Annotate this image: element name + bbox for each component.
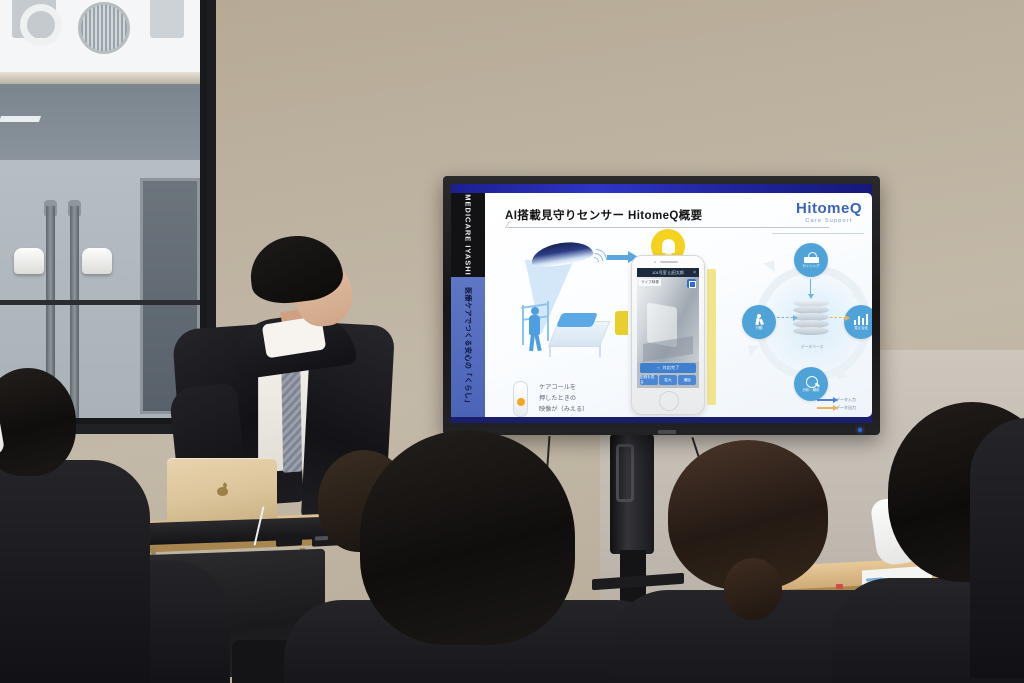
audience-member-far-right bbox=[980, 300, 1024, 683]
window-glass bbox=[0, 0, 200, 418]
rail-brand-text: MEDICARE IYASHI bbox=[464, 194, 473, 275]
sensor-illustration bbox=[509, 241, 629, 366]
care-call-caption: ケアコールを 押したときの 映像が（みえる） bbox=[539, 383, 629, 416]
figure-head bbox=[531, 307, 539, 315]
phone-home-button-icon[interactable] bbox=[659, 391, 679, 411]
phone-button-row: 記録を見る 拡大 通話 bbox=[640, 375, 696, 385]
smartphone-mockup: 101号室 山田太郎 × ライブ映像 ♡ 対応完了 記録を見る bbox=[631, 255, 705, 415]
meeting-room-photo: MEDICARE IYASHI 医療ケアでつくる安心の「くらし」 AI搭載見守り… bbox=[0, 0, 1024, 683]
legend-arrow-out-icon bbox=[817, 407, 833, 408]
wall-fixture-icon bbox=[82, 248, 112, 274]
bed-sensor-icon bbox=[804, 252, 819, 263]
bed-rail bbox=[547, 301, 549, 341]
legend-arrow-in-icon bbox=[817, 399, 833, 400]
phone-screen: 101号室 山田太郎 × ライブ映像 ♡ 対応完了 記録を見る bbox=[637, 268, 699, 388]
slide-side-rail: MEDICARE IYASHI 医療ケアでつくる安心の「くらし」 bbox=[451, 193, 485, 417]
rail-brand-block: MEDICARE IYASHI bbox=[451, 193, 485, 277]
phone-primary-button[interactable]: ♡ 対応完了 bbox=[640, 363, 696, 373]
walking-person-icon bbox=[752, 314, 767, 325]
audience-hair-bun bbox=[724, 558, 782, 620]
figure-leg bbox=[534, 334, 541, 351]
camera-room-view bbox=[637, 277, 699, 362]
apple-logo-icon bbox=[217, 484, 228, 496]
slide-title: AI搭載見守りセンサー HitomeQ概要 bbox=[505, 207, 703, 223]
figure-leg bbox=[529, 334, 534, 351]
figure-body bbox=[529, 315, 540, 335]
bar-chart-icon bbox=[854, 314, 869, 325]
live-video-tag: ライブ映像 bbox=[639, 279, 661, 286]
slide-content: AI搭載見守りセンサー HitomeQ概要 HitomeQ Care Suppo… bbox=[485, 193, 872, 417]
audience-member-center bbox=[330, 430, 620, 683]
caption-line-3: 映像が（みえる） bbox=[539, 405, 629, 416]
bed-leg bbox=[549, 345, 551, 357]
magnifier-icon bbox=[804, 376, 819, 387]
cycle-node-label: 行動 bbox=[756, 326, 763, 331]
legend-item-input: データ入力 bbox=[817, 397, 866, 403]
wall-fixture-icon bbox=[14, 248, 44, 274]
logo-name: HitomeQ bbox=[796, 201, 862, 216]
hitomeq-logo: HitomeQ Care Support bbox=[796, 201, 862, 224]
ceiling-sensor-icon bbox=[530, 238, 595, 269]
cycle-node-label: 分析・解析 bbox=[803, 388, 820, 393]
phone-button-zoom[interactable]: 拡大 bbox=[659, 375, 677, 385]
cycle-node-label: センシング bbox=[803, 264, 820, 269]
cycle-node-action: 行動 bbox=[742, 305, 776, 339]
smartphone-on-table[interactable] bbox=[276, 533, 302, 546]
audience-member-center-right bbox=[640, 440, 860, 683]
tv-brand-mark bbox=[658, 430, 676, 434]
rail-tagline-text: 医療ケアでつくる安心の「くらし」 bbox=[463, 287, 473, 407]
phone-button-records[interactable]: 記録を見る bbox=[640, 375, 658, 385]
phone-status-bar: 101号室 山田太郎 × bbox=[637, 268, 699, 277]
legend-item-output: データ出力 bbox=[817, 405, 866, 411]
data-cycle-diagram: センシング 見える化 分析・解析 bbox=[731, 237, 872, 415]
logo-underline bbox=[772, 233, 864, 234]
yellow-bar-accent bbox=[707, 269, 716, 405]
flow-arrow-out-icon bbox=[830, 317, 845, 318]
caption-line-2: 押したときの bbox=[539, 394, 629, 405]
cycle-node-sensing: センシング bbox=[794, 243, 828, 277]
exterior-fan-icon bbox=[78, 2, 130, 54]
slide: MEDICARE IYASHI 医療ケアでつくる安心の「くらし」 AI搭載見守り… bbox=[451, 193, 872, 417]
database-icon bbox=[793, 299, 829, 341]
window-ledge bbox=[0, 72, 200, 84]
heart-icon: ♡ bbox=[657, 366, 661, 371]
presentation-display[interactable]: MEDICARE IYASHI 医療ケアでつくる安心の「くらし」 AI搭載見守り… bbox=[443, 176, 880, 435]
exterior-vent-b-icon bbox=[150, 0, 184, 38]
cycle-node-label: 見える化 bbox=[854, 326, 867, 331]
exterior-light-strip bbox=[0, 116, 41, 122]
flow-arrow-in-icon bbox=[777, 317, 793, 318]
display-screen: MEDICARE IYASHI 医療ケアでつくる安心の「くらし」 AI搭載見守り… bbox=[451, 184, 872, 423]
bed-leg bbox=[599, 345, 601, 357]
exterior-wall-upper bbox=[0, 84, 200, 164]
phone-primary-button-label: 対応完了 bbox=[663, 365, 680, 371]
flow-arrow-down-icon bbox=[810, 279, 811, 295]
fullscreen-icon[interactable] bbox=[687, 279, 696, 288]
bed-mattress bbox=[556, 313, 598, 327]
phone-speaker bbox=[660, 261, 678, 263]
sensor-flow-arrow-icon bbox=[607, 255, 629, 260]
phone-camera-icon bbox=[654, 261, 656, 263]
audience-head bbox=[360, 430, 575, 645]
title-rule bbox=[507, 227, 829, 228]
audience-member-left bbox=[0, 368, 140, 683]
diagram-legend: データ入力 データ出力 bbox=[817, 395, 866, 411]
audience-shoulders bbox=[970, 418, 1024, 678]
window-mullion bbox=[0, 300, 200, 305]
audience-head bbox=[0, 368, 76, 476]
bed-rail bbox=[522, 305, 524, 345]
close-icon[interactable]: × bbox=[693, 270, 696, 276]
exterior-vent-icon bbox=[12, 0, 56, 38]
phone-button-call[interactable]: 通話 bbox=[678, 375, 696, 385]
cycle-arrow-icon bbox=[744, 340, 760, 357]
audience-shoulders bbox=[0, 460, 150, 683]
yellow-tab-accent bbox=[615, 311, 628, 335]
caption-line-1: ケアコールを bbox=[539, 383, 629, 394]
care-call-device-icon bbox=[513, 381, 528, 417]
cycle-arrow-icon bbox=[763, 256, 780, 272]
patient-figure-icon bbox=[527, 307, 543, 351]
cycle-node-visualize: 見える化 bbox=[844, 305, 872, 339]
rail-tagline-block: 医療ケアでつくる安心の「くらし」 bbox=[451, 277, 485, 417]
phone-room-label: 101号室 山田太郎 bbox=[652, 270, 684, 276]
logo-tagline: Care Support bbox=[796, 218, 862, 224]
database-label: データベース bbox=[783, 345, 841, 350]
